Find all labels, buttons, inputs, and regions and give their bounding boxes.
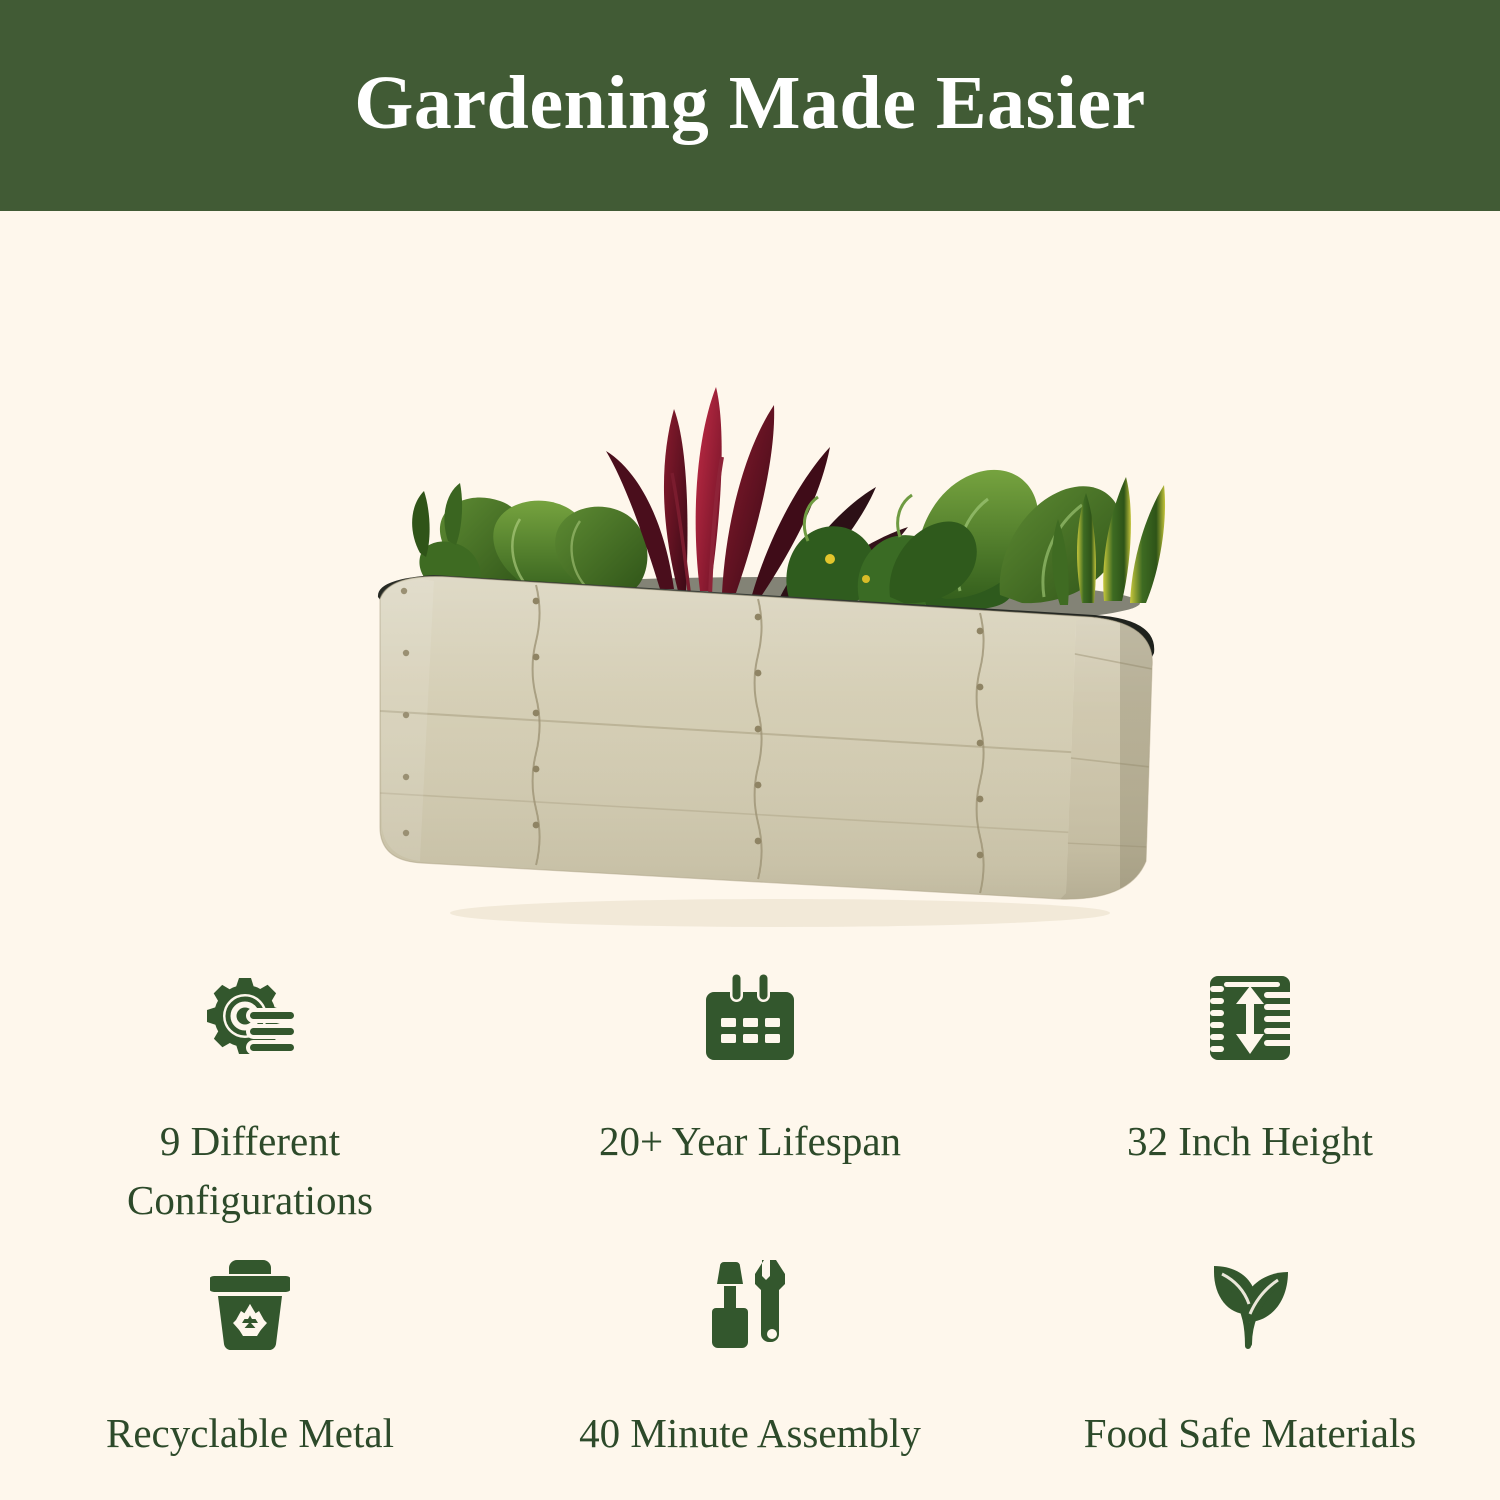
tools-icon [702, 1256, 798, 1352]
recycle-bin-icon [202, 1256, 298, 1352]
feature-configurations: 9 Different Configurations [0, 970, 500, 1230]
calendar-icon [702, 970, 798, 1066]
feature-recyclable: Recyclable Metal [0, 1240, 500, 1463]
feature-label: 32 Inch Height [1127, 1112, 1373, 1171]
page-header: Gardening Made Easier [0, 0, 1500, 211]
gear-settings-icon [202, 970, 298, 1066]
feature-assembly: 40 Minute Assembly [500, 1240, 1000, 1463]
feature-row-2: Recyclable Metal 40 Minute Assembly [0, 1240, 1500, 1500]
feature-label-line-1: 9 Different [160, 1118, 340, 1164]
product-stage [360, 291, 1180, 931]
feature-label: Food Safe Materials [1084, 1404, 1416, 1463]
page-title: Gardening Made Easier [354, 65, 1146, 141]
raised-garden-bed [360, 561, 1180, 951]
feature-lifespan: 20+ Year Lifespan [500, 970, 1000, 1171]
hero-product-image [0, 211, 1500, 960]
feature-label: Recyclable Metal [106, 1404, 394, 1463]
ruler-height-icon [1202, 970, 1298, 1066]
feature-food-safe: Food Safe Materials [1000, 1240, 1500, 1463]
feature-label: 20+ Year Lifespan [599, 1112, 901, 1171]
feature-grid: 9 Different Configurations [0, 960, 1500, 1500]
feature-height: 32 Inch Height [1000, 970, 1500, 1171]
feature-row-1: 9 Different Configurations [0, 970, 1500, 1240]
feature-label: 9 Different Configurations [127, 1112, 373, 1230]
feature-label: 40 Minute Assembly [579, 1404, 921, 1463]
leaf-icon [1202, 1256, 1298, 1352]
feature-label-line-2: Configurations [127, 1177, 373, 1223]
